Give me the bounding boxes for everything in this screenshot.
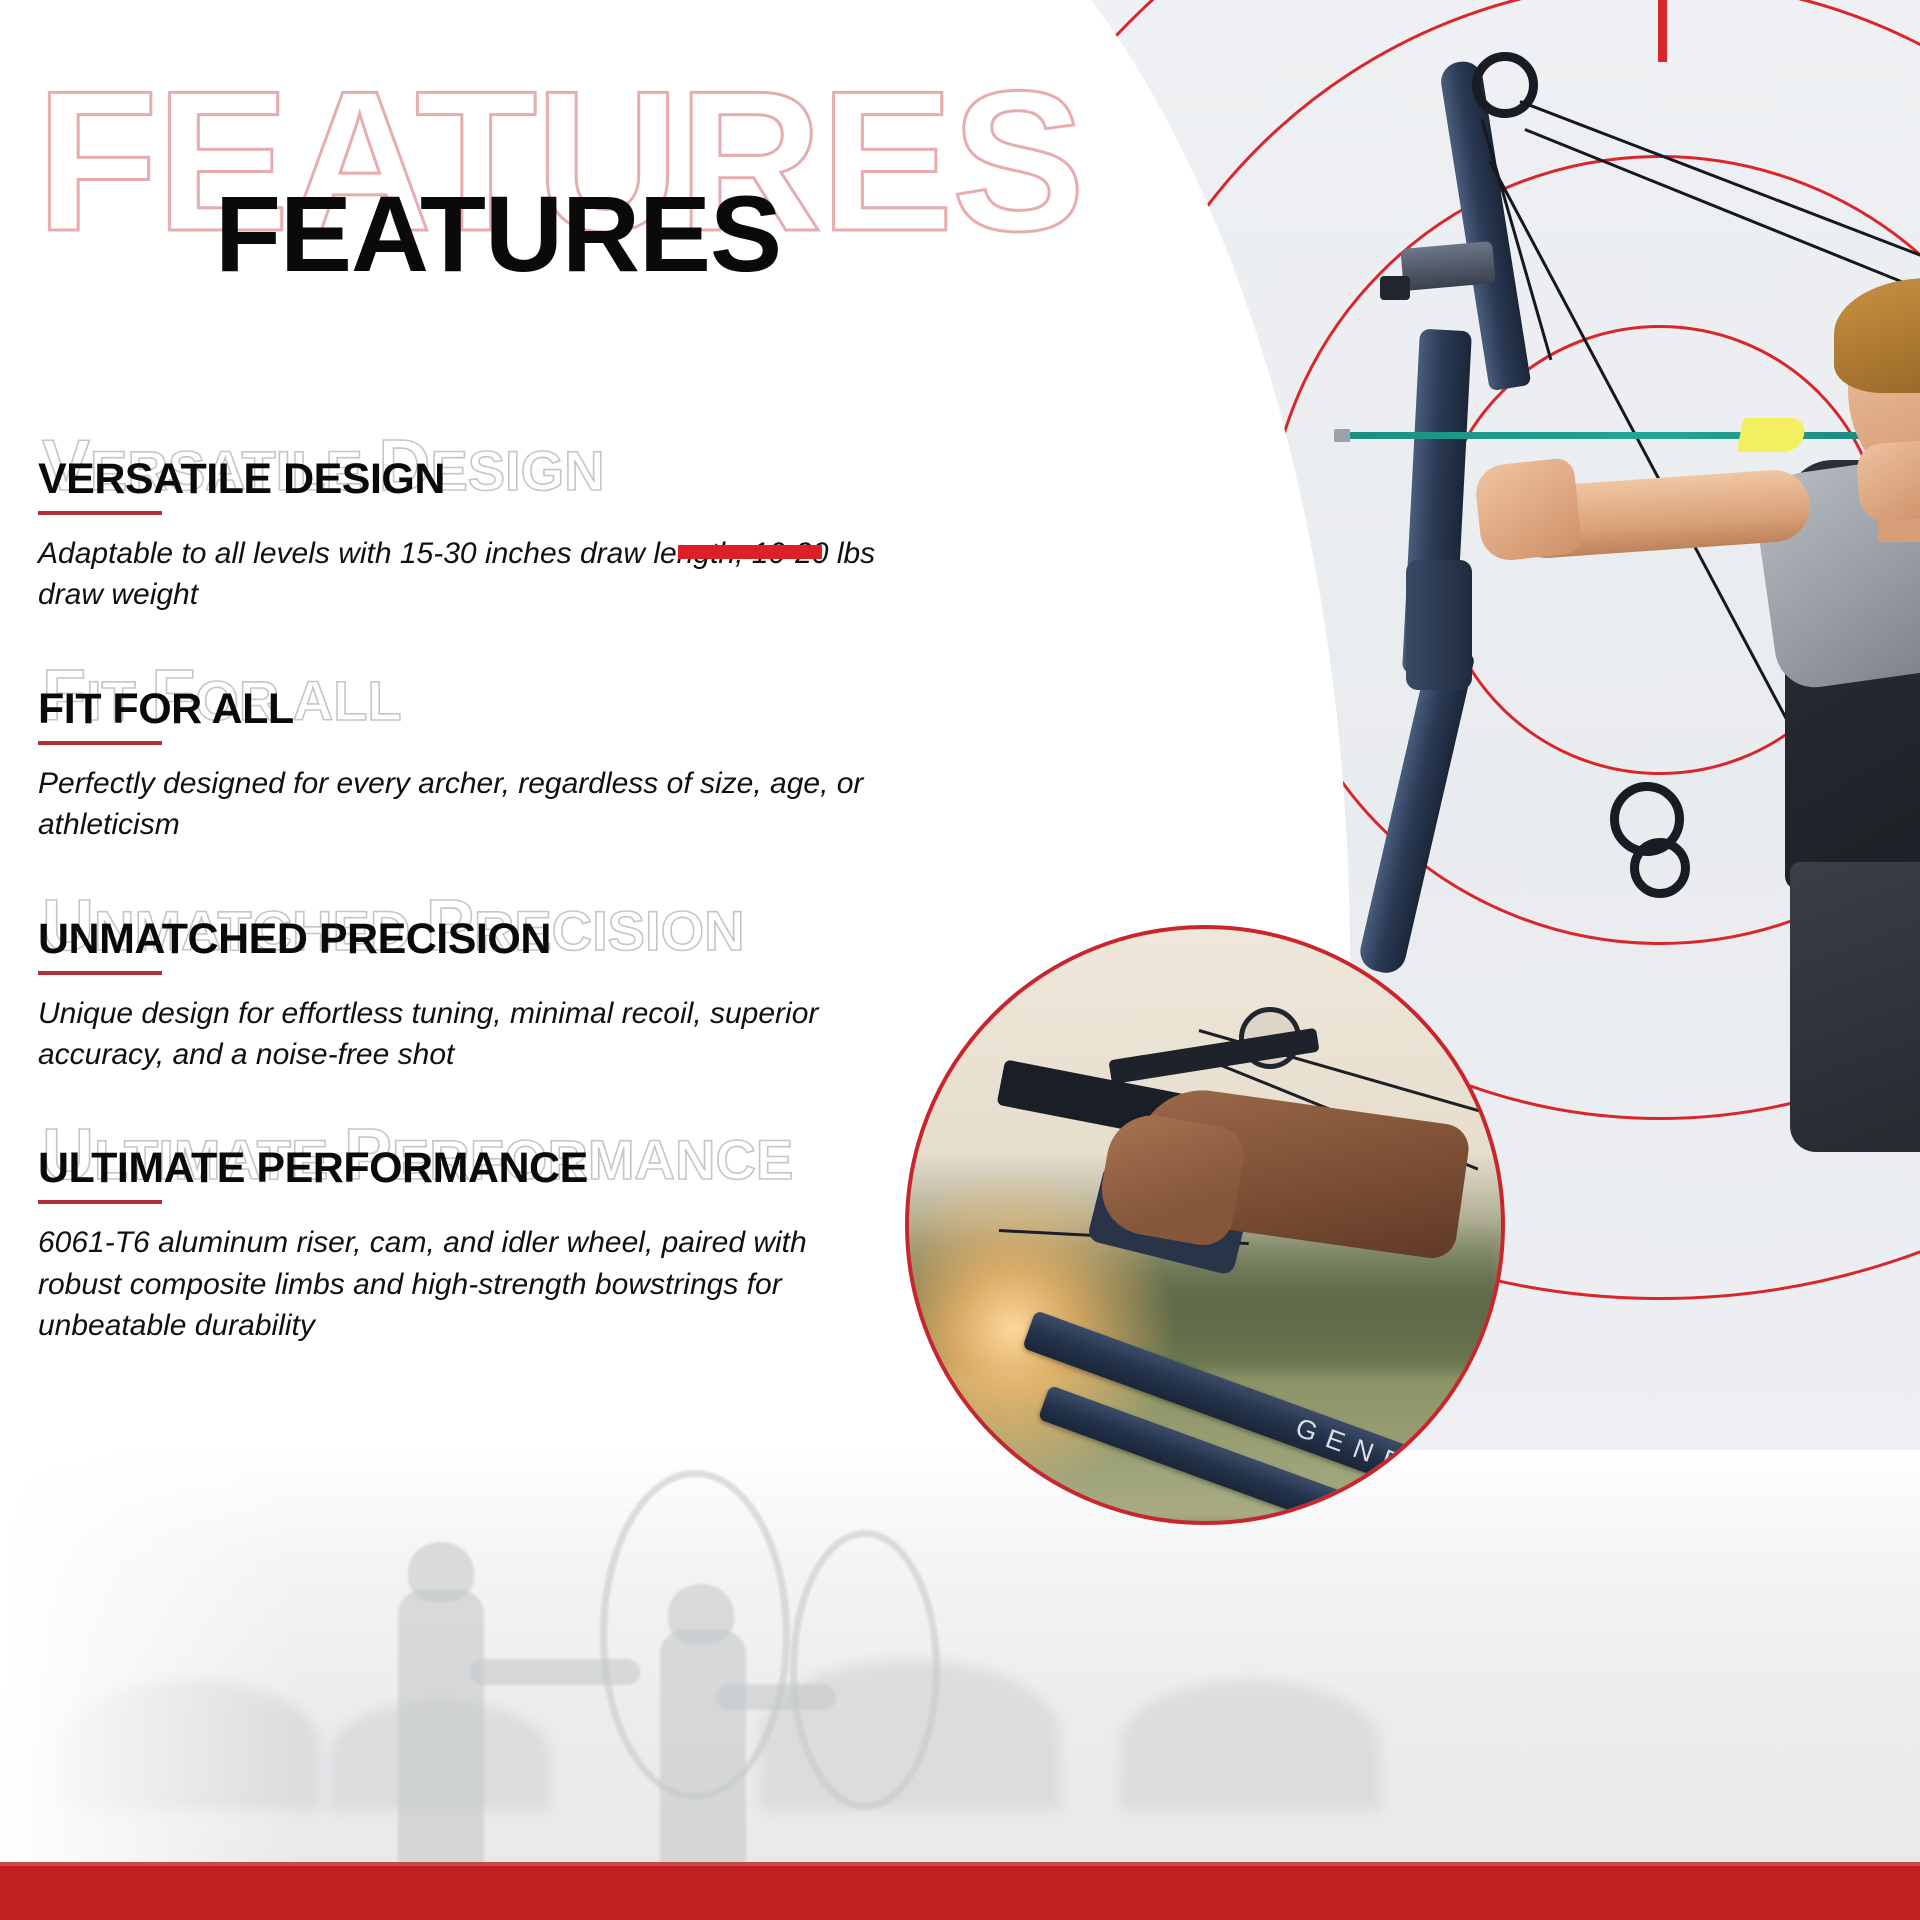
arrow-fletching bbox=[1736, 418, 1807, 452]
cam-wheel-lower bbox=[1630, 838, 1690, 898]
feature-description: 6061-T6 aluminum riser, cam, and idler w… bbox=[38, 1222, 898, 1346]
archer-shorts bbox=[1790, 862, 1920, 1152]
archer-bow-hand bbox=[1473, 457, 1582, 563]
bowstring-main bbox=[1489, 161, 1802, 745]
arrow-tip-icon bbox=[1334, 429, 1350, 442]
feature-underline bbox=[38, 511, 162, 515]
accent-dash bbox=[678, 545, 822, 559]
archer-draw-hand bbox=[1855, 439, 1920, 523]
feature-underline bbox=[38, 741, 162, 745]
feature-item-unmatched-precision: UNMATCHED PRECISION UNMATCHED PRECISION … bbox=[0, 890, 920, 1076]
archer-hair bbox=[1834, 278, 1920, 393]
idler-wheel-icon bbox=[1472, 52, 1538, 118]
footer-highlight bbox=[0, 1862, 1920, 1866]
feature-heading: ULTIMATE PERFORMANCE bbox=[38, 1119, 920, 1190]
feature-item-ultimate-performance: ULTIMATE PERFORMANCE ULTIMATE PERFORMANC… bbox=[0, 1119, 920, 1346]
feature-list: VERSATILE DESIGN VERSATILE DESIGN Adapta… bbox=[0, 430, 920, 1391]
feature-heading: VERSATILE DESIGN bbox=[38, 430, 920, 501]
feature-heading: UNMATCHED PRECISION bbox=[38, 890, 920, 961]
bow-grip bbox=[1406, 560, 1472, 690]
feature-heading: FIT FOR ALL bbox=[38, 660, 920, 731]
page-title: FEATURES bbox=[215, 180, 781, 288]
product-detail-inset-photo: GENESIS GENESIS bbox=[905, 925, 1505, 1525]
silhouette-left-fade bbox=[0, 1450, 300, 1920]
bow-lower-limb bbox=[1356, 645, 1475, 977]
bow-arrow-rest bbox=[1400, 241, 1495, 291]
feature-description: Unique design for effortless tuning, min… bbox=[38, 993, 898, 1076]
bow-sight bbox=[1380, 276, 1410, 300]
feature-description: Perfectly designed for every archer, reg… bbox=[38, 763, 898, 846]
feature-item-fit-for-all: FIT FOR ALL FIT FOR ALL Perfectly design… bbox=[0, 660, 920, 846]
feature-underline bbox=[38, 1200, 162, 1204]
feature-item-versatile-design: VERSATILE DESIGN VERSATILE DESIGN Adapta… bbox=[0, 430, 920, 616]
feature-underline bbox=[38, 971, 162, 975]
footer-bar bbox=[0, 1862, 1920, 1920]
